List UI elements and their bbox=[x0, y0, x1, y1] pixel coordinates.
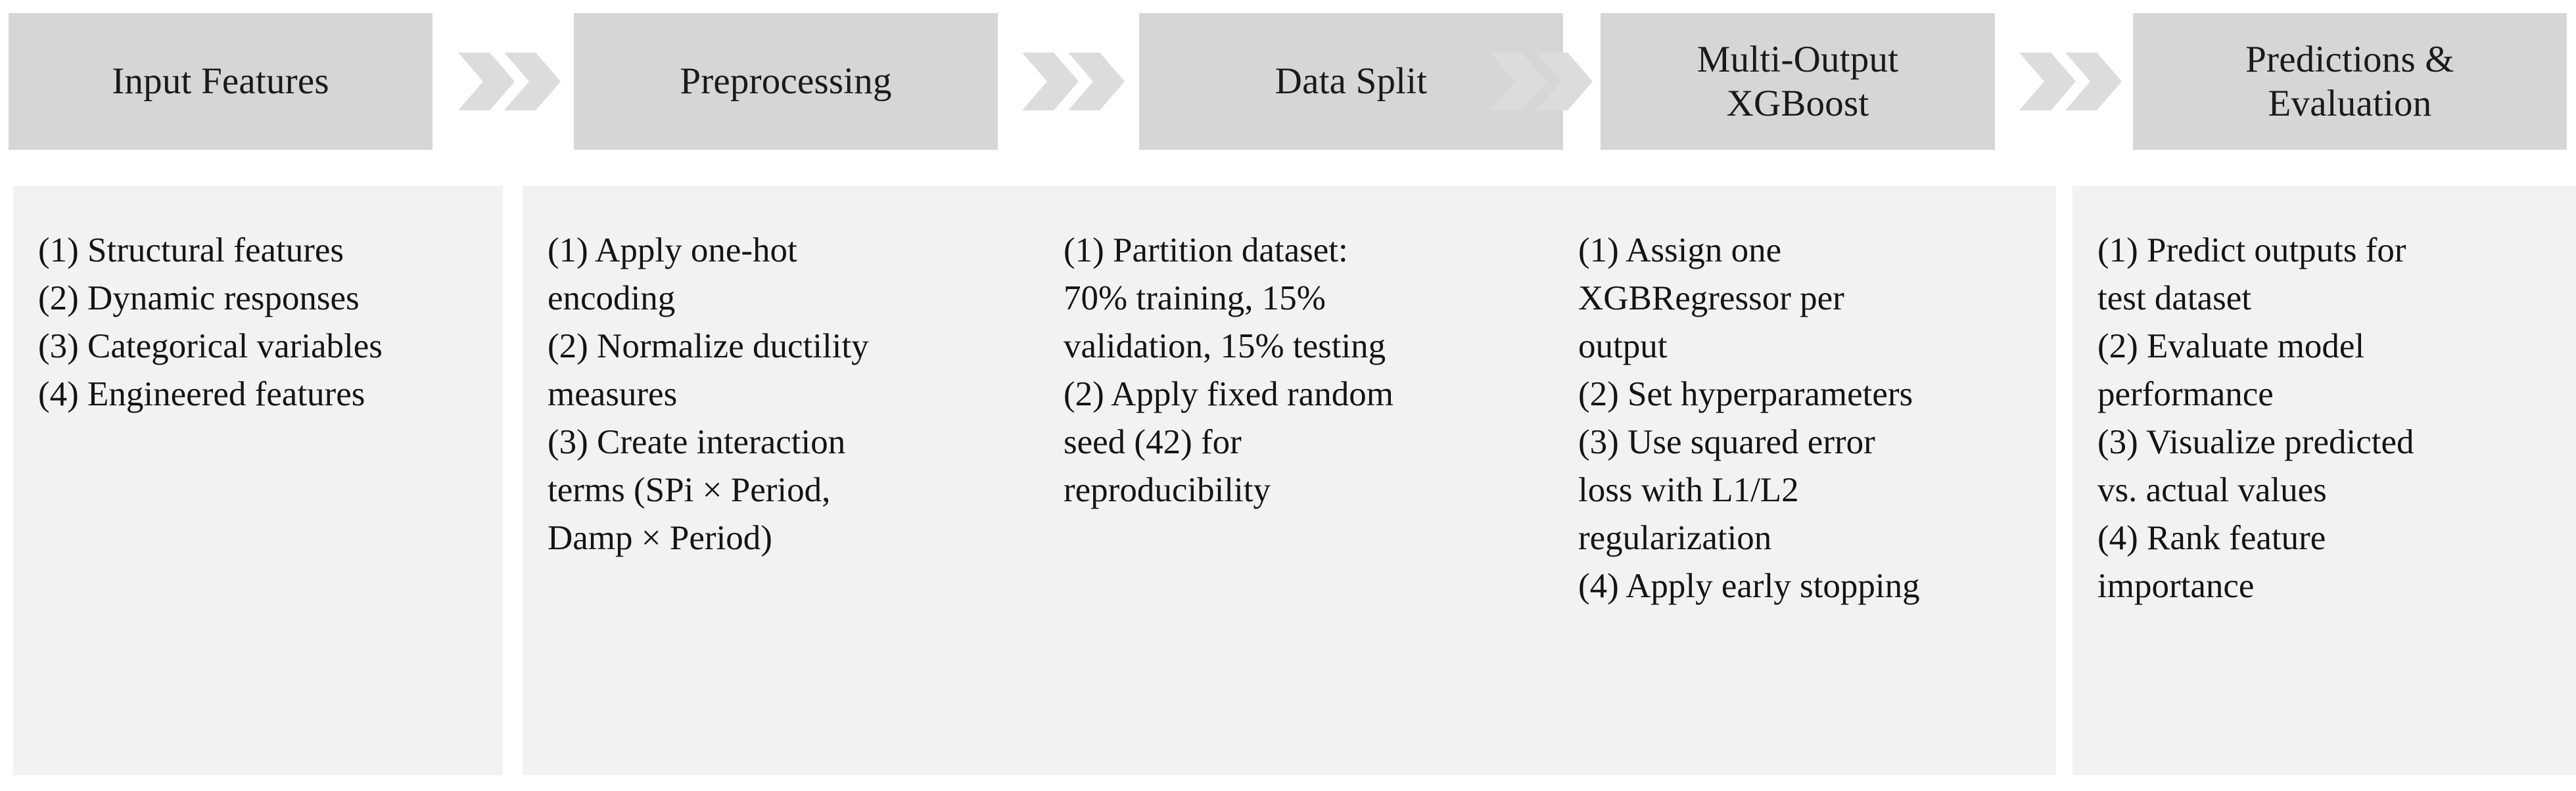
list-item: (1) Partition dataset: 70% training, 15%… bbox=[1064, 227, 1541, 371]
list-item: (3) Create interaction terms (SPi × Peri… bbox=[548, 418, 1021, 562]
list-item: (4) Rank feature importance bbox=[2097, 514, 2559, 610]
stage-item-list: (1) Structural features (2) Dynamic resp… bbox=[38, 227, 486, 418]
stage-header-multi-output-xgboost[interactable]: Multi-Output XGBoost bbox=[1601, 13, 1995, 150]
stage-header-label: Data Split bbox=[1269, 59, 1434, 103]
list-item: (2) Normalize ductility measures bbox=[548, 323, 1021, 418]
double-chevron-right-icon bbox=[1021, 51, 1126, 112]
list-item: (1) Structural features bbox=[38, 227, 486, 275]
stage-header-input-features[interactable]: Input Features bbox=[9, 13, 433, 150]
list-item: (1) Assign one XGBRegressor per output bbox=[1578, 227, 2039, 371]
stage-item-list: (1) Assign one XGBRegressor per output (… bbox=[1578, 227, 2039, 610]
double-chevron-right-icon bbox=[457, 51, 562, 112]
pipeline-body-row: (1) Structural features (2) Dynamic resp… bbox=[0, 186, 2576, 775]
list-item: (3) Use squared error loss with L1/L2 re… bbox=[1578, 418, 2039, 562]
list-item: (4) Engineered features bbox=[38, 371, 486, 418]
list-item: (2) Apply fixed random seed (42) for rep… bbox=[1064, 371, 1541, 514]
stage-body-data-split: (1) Partition dataset: 70% training, 15%… bbox=[1039, 186, 1558, 775]
stage-header-label: Input Features bbox=[105, 59, 335, 103]
list-item: (2) Dynamic responses bbox=[38, 275, 486, 323]
stage-header-label: Predictions & Evaluation bbox=[2239, 37, 2461, 126]
stage-header-label: Preprocessing bbox=[673, 59, 898, 103]
double-chevron-right-icon bbox=[2018, 51, 2123, 112]
stage-body-multi-output-xgboost: (1) Assign one XGBRegressor per output (… bbox=[1553, 186, 2056, 775]
list-item: (4) Apply early stopping bbox=[1578, 562, 2039, 610]
stage-item-list: (1) Predict outputs for test dataset (2)… bbox=[2097, 227, 2559, 610]
stage-header-label: Multi-Output XGBoost bbox=[1691, 37, 1905, 126]
stage-header-preprocessing[interactable]: Preprocessing bbox=[574, 13, 998, 150]
stage-item-list: (1) Partition dataset: 70% training, 15%… bbox=[1064, 227, 1541, 514]
stage-header-predictions-evaluation[interactable]: Predictions & Evaluation bbox=[2133, 13, 2567, 150]
list-item: (2) Evaluate model performance bbox=[2097, 323, 2559, 418]
list-item: (3) Categorical variables bbox=[38, 323, 486, 371]
stage-body-predictions-evaluation: (1) Predict outputs for test dataset (2)… bbox=[2073, 186, 2576, 775]
double-chevron-right-icon bbox=[1489, 51, 1594, 112]
list-item: (2) Set hyperparameters bbox=[1578, 371, 2039, 418]
stage-body-preprocessing: (1) Apply one-hot encoding (2) Normalize… bbox=[523, 186, 1039, 775]
list-item: (1) Apply one-hot encoding bbox=[548, 227, 1021, 323]
pipeline-header-row: Input Features Preprocessing Data Split … bbox=[0, 13, 2576, 150]
list-item: (1) Predict outputs for test dataset bbox=[2097, 227, 2559, 323]
list-item: (3) Visualize predicted vs. actual value… bbox=[2097, 418, 2559, 514]
stage-item-list: (1) Apply one-hot encoding (2) Normalize… bbox=[548, 227, 1021, 562]
stage-body-input-features: (1) Structural features (2) Dynamic resp… bbox=[13, 186, 503, 775]
